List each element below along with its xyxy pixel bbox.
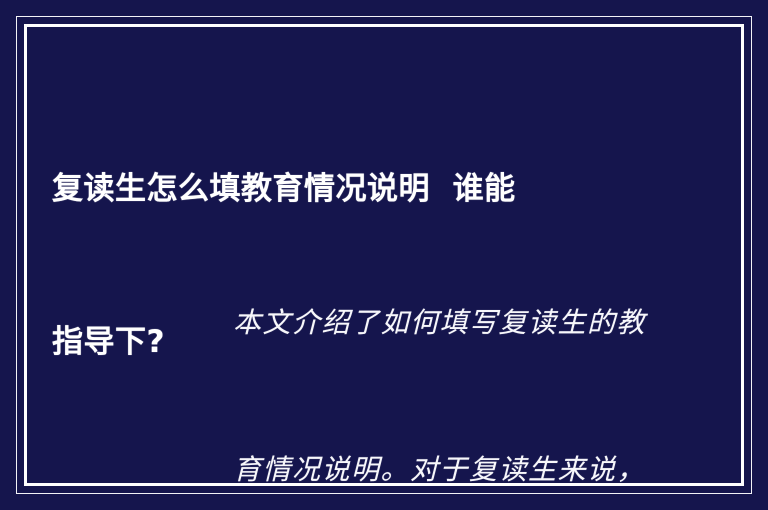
body-line-2: 育情况说明。对于复读生来说， [233,445,663,494]
poster-canvas: 复读生怎么填教育情况说明 谁能 指导下? 本文介绍了如何填写复读生的教 育情况说… [0,0,768,510]
body-line-1: 本文介绍了如何填写复读生的教 [233,298,663,347]
body-paragraph: 本文介绍了如何填写复读生的教 育情况说明。对于复读生来说， 填写教育情况说明是非… [233,200,663,510]
